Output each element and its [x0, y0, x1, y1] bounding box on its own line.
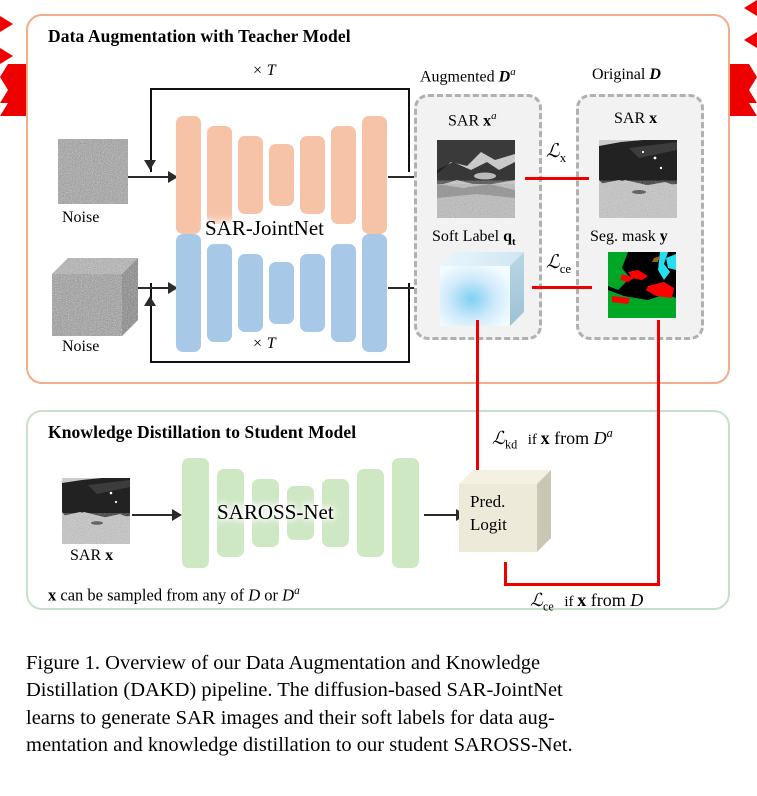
arrowhead-loop-top-feedback: [144, 160, 156, 170]
net-bar-top-4: [269, 144, 294, 206]
caption-line-2: Distillation (DAKD) pipeline. The diffus…: [26, 677, 732, 704]
loss-kd-label: ℒkd if x from Da: [492, 426, 613, 453]
noise-bottom-label: Noise: [62, 338, 99, 356]
caption-line-3: learns to generate SAR images and their …: [26, 705, 732, 732]
soft-label-label: Soft Label qt: [432, 228, 516, 248]
net-bar-top-6: [331, 126, 356, 224]
student-input-label: SAR x: [70, 547, 113, 565]
noise-image-top: [58, 139, 128, 204]
pred-logit-line1: Pred.: [470, 492, 505, 512]
net-bar-bottom-3: [238, 254, 263, 332]
net-bar-bottom-2: [207, 244, 232, 342]
arrowhead-loop-bottom-feedback: [144, 296, 156, 306]
figure-caption: Figure 1. Overview of our Data Augmentat…: [26, 650, 732, 759]
net-bar-top-1: [176, 116, 201, 234]
net-bar-top-2: [207, 126, 232, 224]
caption-line-4: mentation and knowledge distillation to …: [26, 732, 732, 759]
seg-mask-label: Seg. mask y: [590, 228, 668, 246]
noise-image-bottom: [52, 258, 138, 336]
student-bar-7: [392, 458, 419, 568]
sar-original-label: SAR x: [614, 110, 657, 128]
original-dataset-label: Original D: [592, 66, 661, 84]
sar-augmented-label: SAR xa: [448, 110, 497, 130]
soft-label-cube-svg: [440, 252, 524, 326]
net-bar-bottom-5: [300, 254, 325, 332]
seg-mask-svg: [608, 252, 676, 318]
caption-line-1: Figure 1. Overview of our Data Augmentat…: [26, 650, 732, 677]
loss-x-label: ℒx: [546, 140, 566, 166]
student-bar-6: [357, 469, 384, 557]
saross-net-label: SAROSS-Net: [217, 500, 334, 525]
teacher-panel-title: Data Augmentation with Teacher Model: [48, 26, 351, 47]
net-bar-bottom-7: [362, 234, 387, 352]
net-bar-bottom-1: [176, 234, 201, 352]
augmented-dataset-label: Augmented Da: [420, 66, 516, 86]
net-bar-bottom-4: [269, 262, 294, 324]
student-panel-title: Knowledge Distillation to Student Model: [48, 422, 356, 443]
sar-jointnet-label: SAR-JointNet: [205, 216, 324, 241]
net-bar-top-7: [362, 116, 387, 234]
loss-ce-arrow-line: [532, 286, 592, 289]
seg-mask-image: [608, 252, 676, 318]
pred-logit-line2: Logit: [470, 515, 507, 535]
net-bar-bottom-6: [331, 244, 356, 342]
soft-label-cube: [440, 252, 524, 326]
loop-top-label: × T: [252, 62, 276, 80]
loss-ce2-route-vertical: [657, 320, 660, 585]
arrowhead-input-to-student-net: [172, 509, 182, 521]
sar-augmented-svg: [437, 140, 515, 218]
loss-kd-arrow-line: [476, 320, 479, 470]
student-bar-1: [182, 458, 209, 568]
student-input-svg: [62, 478, 130, 544]
noise-texture-top-svg: [58, 139, 128, 204]
sar-original-image: [599, 140, 677, 218]
student-input-image: [62, 478, 130, 544]
net-bar-top-5: [300, 136, 325, 214]
loss-ce2-route-horizontal: [504, 583, 660, 586]
student-sampling-note: x can be sampled from any of D or Da: [48, 585, 300, 606]
sar-augmented-image: [437, 140, 515, 218]
figure-dakd-pipeline: Data Augmentation with Teacher Model × T…: [0, 0, 757, 796]
loss-ce-label: ℒce: [546, 251, 571, 277]
noise-cube-svg: [52, 258, 138, 336]
loss-ce2-label: ℒce if x from D: [530, 590, 643, 615]
noise-top-label: Noise: [62, 209, 99, 227]
sar-jointnet-bottom-branch: [176, 234, 406, 352]
sar-original-svg: [599, 140, 677, 218]
net-bar-top-3: [238, 136, 263, 214]
loss-x-arrow-line: [525, 177, 589, 180]
